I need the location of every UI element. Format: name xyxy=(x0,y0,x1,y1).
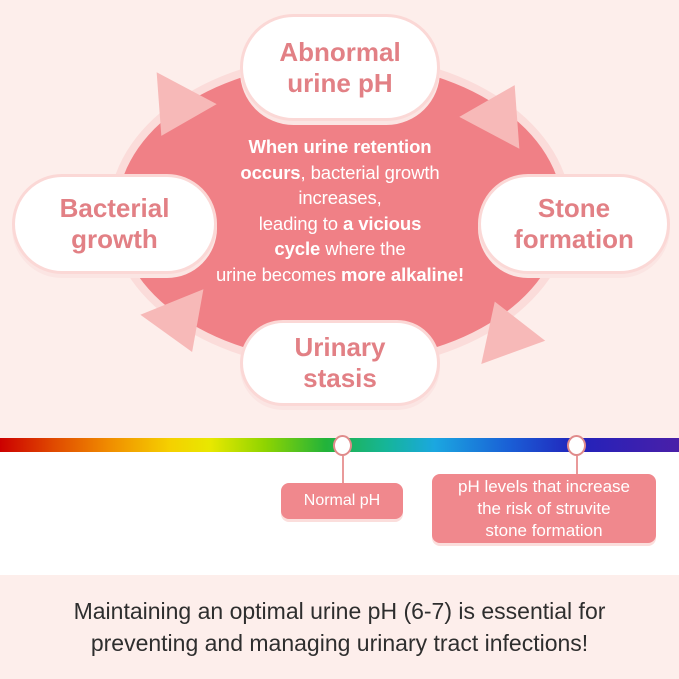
cycle-diagram-section: When urine retention occurs, bacterial g… xyxy=(0,0,679,432)
struvite-risk-callout[interactable]: pH levels that increase the risk of stru… xyxy=(432,474,656,543)
cycle-node-label: Bacterialgrowth xyxy=(60,193,170,255)
center-text-line3: increases, xyxy=(298,187,381,208)
cycle-node-stone-formation[interactable]: Stoneformation xyxy=(478,174,670,274)
center-text-line4-bold: a vicious xyxy=(343,213,421,234)
normal-ph-marker-icon[interactable] xyxy=(333,435,352,456)
center-text-line4-rest: leading to xyxy=(259,213,343,234)
struvite-risk-line3: stone formation xyxy=(485,521,602,540)
cycle-node-abnormal-urine-ph[interactable]: Abnormalurine pH xyxy=(240,14,440,121)
center-text-line5-bold: cycle xyxy=(274,238,320,259)
normal-ph-callout-label: Normal pH xyxy=(304,492,380,510)
struvite-risk-line1: pH levels that increase xyxy=(458,477,630,496)
footer-line1: Maintaining an optimal urine pH (6-7) is… xyxy=(74,598,606,624)
struvite-risk-line2: the risk of struvite xyxy=(477,499,610,518)
ph-scale-section: Normal pH pH levels that increase the ri… xyxy=(0,432,679,575)
center-text-line1: When urine retention xyxy=(248,136,431,157)
center-text-line5-rest: where the xyxy=(320,238,405,259)
cycle-center-text: When urine retention occurs, bacterial g… xyxy=(196,134,484,287)
cycle-node-label: Stoneformation xyxy=(514,193,634,255)
cycle-node-bacterial-growth[interactable]: Bacterialgrowth xyxy=(12,174,217,274)
infographic-page: When urine retention occurs, bacterial g… xyxy=(0,0,679,679)
center-text-line2-rest: , bacterial growth xyxy=(301,162,440,183)
footer-line2: preventing and managing urinary tract in… xyxy=(91,630,588,656)
struvite-risk-callout-text: pH levels that increase the risk of stru… xyxy=(458,476,630,542)
footer-section: Maintaining an optimal urine pH (6-7) is… xyxy=(0,575,679,679)
cycle-node-label: Urinarystasis xyxy=(294,332,385,394)
cycle-node-urinary-stasis[interactable]: Urinarystasis xyxy=(240,320,440,406)
center-text-line2-bold: occurs xyxy=(240,162,300,183)
struvite-risk-marker-icon[interactable] xyxy=(567,435,586,456)
center-text-line6-rest: urine becomes xyxy=(216,264,341,285)
center-text-line6-bold: more alkaline! xyxy=(341,264,464,285)
cycle-node-label: Abnormalurine pH xyxy=(279,37,400,99)
normal-ph-callout[interactable]: Normal pH xyxy=(281,483,403,519)
footer-message: Maintaining an optimal urine pH (6-7) is… xyxy=(35,595,645,659)
